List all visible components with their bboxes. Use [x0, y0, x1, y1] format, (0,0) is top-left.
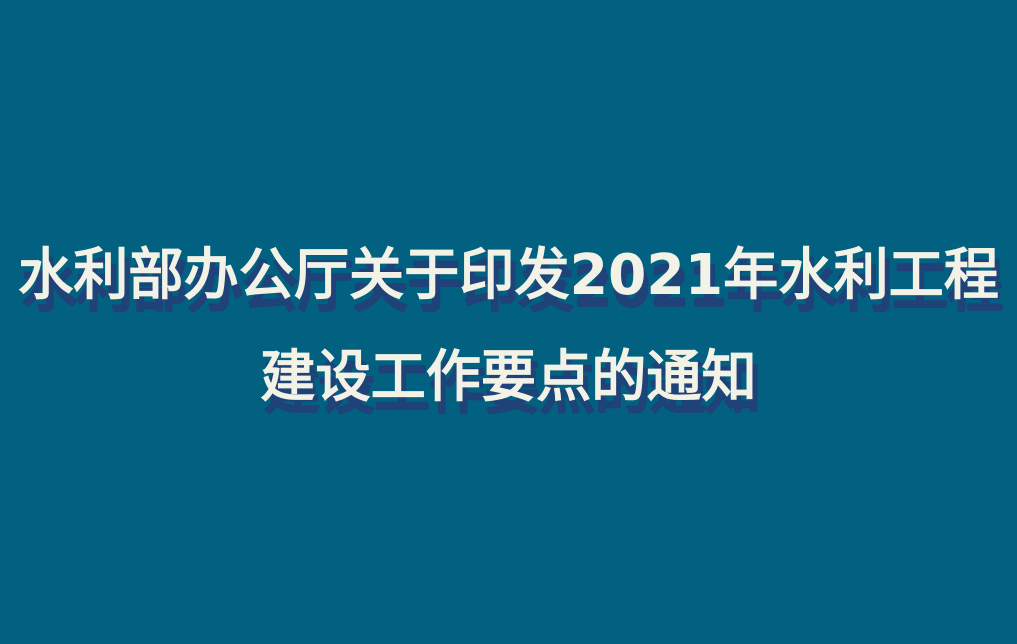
title-block: 水利部办公厅关于印发2021年水利工程 建设工作要点的通知	[0, 0, 1017, 644]
title-line-2: 建设工作要点的通知	[8, 347, 1010, 409]
title-line-1: 水利部办公厅关于印发2021年水利工程	[8, 245, 1010, 307]
title-banner: 水利部办公厅关于印发2021年水利工程 建设工作要点的通知	[0, 0, 1017, 644]
